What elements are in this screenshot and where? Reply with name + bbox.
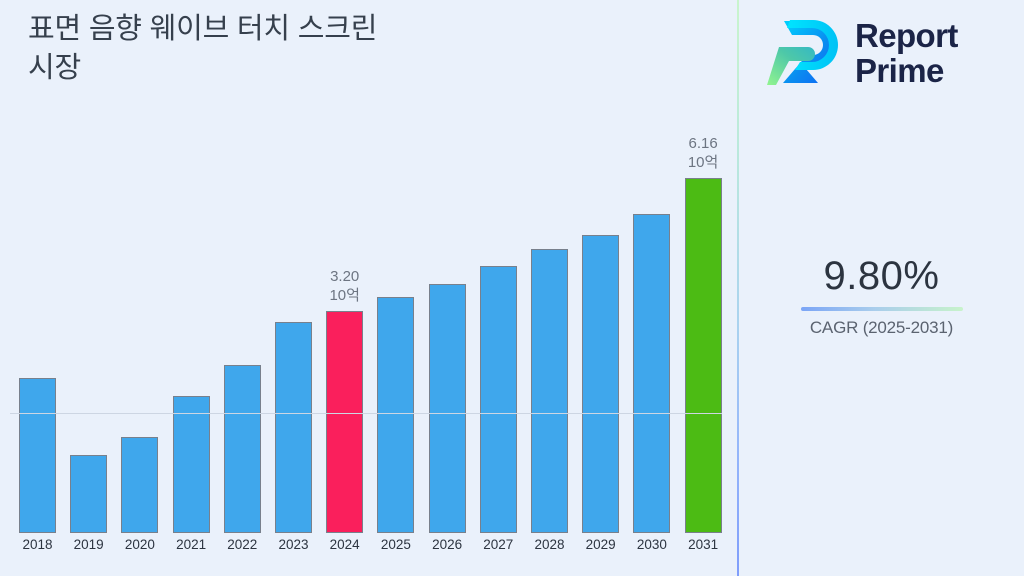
bar-2018 xyxy=(19,378,56,533)
cagr-value: 9.80% xyxy=(739,252,1024,300)
bar-rect-2025 xyxy=(377,297,414,533)
x-tick-2019: 2019 xyxy=(60,537,118,552)
bar-2030 xyxy=(633,214,670,533)
brand-lockup: Report Prime xyxy=(767,12,1017,94)
bar-2024: 3.20 10억 xyxy=(326,311,363,533)
x-axis-line xyxy=(10,413,722,414)
bar-2023 xyxy=(275,322,312,533)
bar-value-label-2024: 3.20 10억 xyxy=(303,267,387,305)
plot-area: 3.20 10억6.16 10억 xyxy=(0,120,738,533)
x-tick-2018: 2018 xyxy=(9,537,67,552)
side-panel: Report Prime 9.80% CAGR (2025-2031) xyxy=(739,0,1024,576)
bar-rect-2018 xyxy=(19,378,56,533)
x-tick-2029: 2029 xyxy=(572,537,630,552)
x-tick-2027: 2027 xyxy=(469,537,527,552)
x-tick-2026: 2026 xyxy=(418,537,476,552)
x-tick-2022: 2022 xyxy=(213,537,271,552)
bar-rect-2031 xyxy=(685,178,722,533)
bar-2020 xyxy=(121,437,158,533)
brand-name: Report Prime xyxy=(855,18,958,88)
x-axis-tick-labels: 2018201920202021202220232024202520262027… xyxy=(0,537,738,561)
bar-rect-2022 xyxy=(224,365,261,533)
x-tick-2031: 2031 xyxy=(674,537,732,552)
bar-rect-2024 xyxy=(326,311,363,533)
cagr-divider-rule xyxy=(801,307,963,311)
bar-rect-2027 xyxy=(480,266,517,533)
bar-2029 xyxy=(582,235,619,533)
bar-value-label-2031: 6.16 10억 xyxy=(661,134,745,172)
bar-2022 xyxy=(224,365,261,533)
x-tick-2024: 2024 xyxy=(316,537,374,552)
bar-rect-2019 xyxy=(70,455,107,533)
report-prime-logo-icon xyxy=(767,17,843,89)
bar-2026 xyxy=(429,284,466,533)
chart-title: 표면 음향 웨이브 터치 스크린 시장 xyxy=(28,10,688,88)
chart-screenshot: 표면 음향 웨이브 터치 스크린 시장 3.20 10억6.16 10억 201… xyxy=(0,0,1024,576)
bar-rect-2026 xyxy=(429,284,466,533)
bar-rect-2020 xyxy=(121,437,158,533)
bar-rect-2023 xyxy=(275,322,312,533)
bar-rect-2028 xyxy=(531,249,568,533)
bar-2028 xyxy=(531,249,568,533)
bar-rect-2021 xyxy=(173,396,210,533)
x-tick-2028: 2028 xyxy=(521,537,579,552)
bar-rect-2029 xyxy=(582,235,619,533)
cagr-caption: CAGR (2025-2031) xyxy=(739,317,1024,339)
x-tick-2020: 2020 xyxy=(111,537,169,552)
x-tick-2025: 2025 xyxy=(367,537,425,552)
bar-2025 xyxy=(377,297,414,533)
x-tick-2023: 2023 xyxy=(265,537,323,552)
x-tick-2030: 2030 xyxy=(623,537,681,552)
bar-2019 xyxy=(70,455,107,533)
bar-2031: 6.16 10억 xyxy=(685,178,722,533)
bar-2027 xyxy=(480,266,517,533)
chart-panel: 표면 음향 웨이브 터치 스크린 시장 3.20 10억6.16 10억 201… xyxy=(0,0,738,576)
cagr-block: 9.80% CAGR (2025-2031) xyxy=(739,252,1024,339)
bar-rect-2030 xyxy=(633,214,670,533)
x-tick-2021: 2021 xyxy=(162,537,220,552)
bar-2021 xyxy=(173,396,210,533)
